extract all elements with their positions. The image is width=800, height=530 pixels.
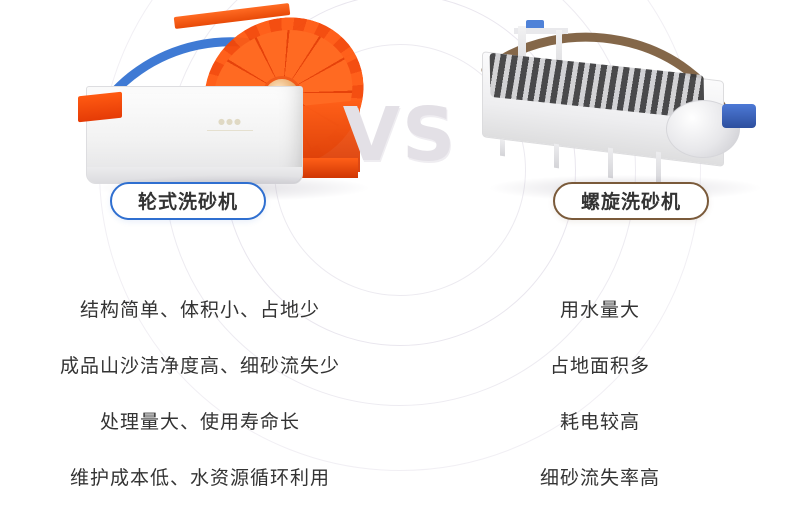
list-item: 耗电较高 xyxy=(400,394,800,450)
right-product-title: 螺旋洗砂机 xyxy=(553,182,709,220)
right-feature-list: 用水量大 占地面积多 耗电较高 细砂流失率高 xyxy=(400,282,800,506)
comparison-infographic: ●●● VS 轮式洗砂机 螺旋洗砂机 结构简单、体积小、占地少 成品山沙洁净度高… xyxy=(0,0,800,530)
left-feature-list: 结构简单、体积小、占地少 成品山沙洁净度高、细砂流失少 处理量大、使用寿命长 维… xyxy=(0,282,400,506)
list-item: 处理量大、使用寿命长 xyxy=(0,394,400,450)
vs-label: VS xyxy=(0,92,800,178)
left-product-title: 轮式洗砂机 xyxy=(110,182,266,220)
list-item: 结构简单、体积小、占地少 xyxy=(0,282,400,338)
list-item: 用水量大 xyxy=(400,282,800,338)
list-item: 维护成本低、水资源循环利用 xyxy=(0,450,400,506)
list-item: 细砂流失率高 xyxy=(400,450,800,506)
list-item: 成品山沙洁净度高、细砂流失少 xyxy=(0,338,400,394)
list-item: 占地面积多 xyxy=(400,338,800,394)
